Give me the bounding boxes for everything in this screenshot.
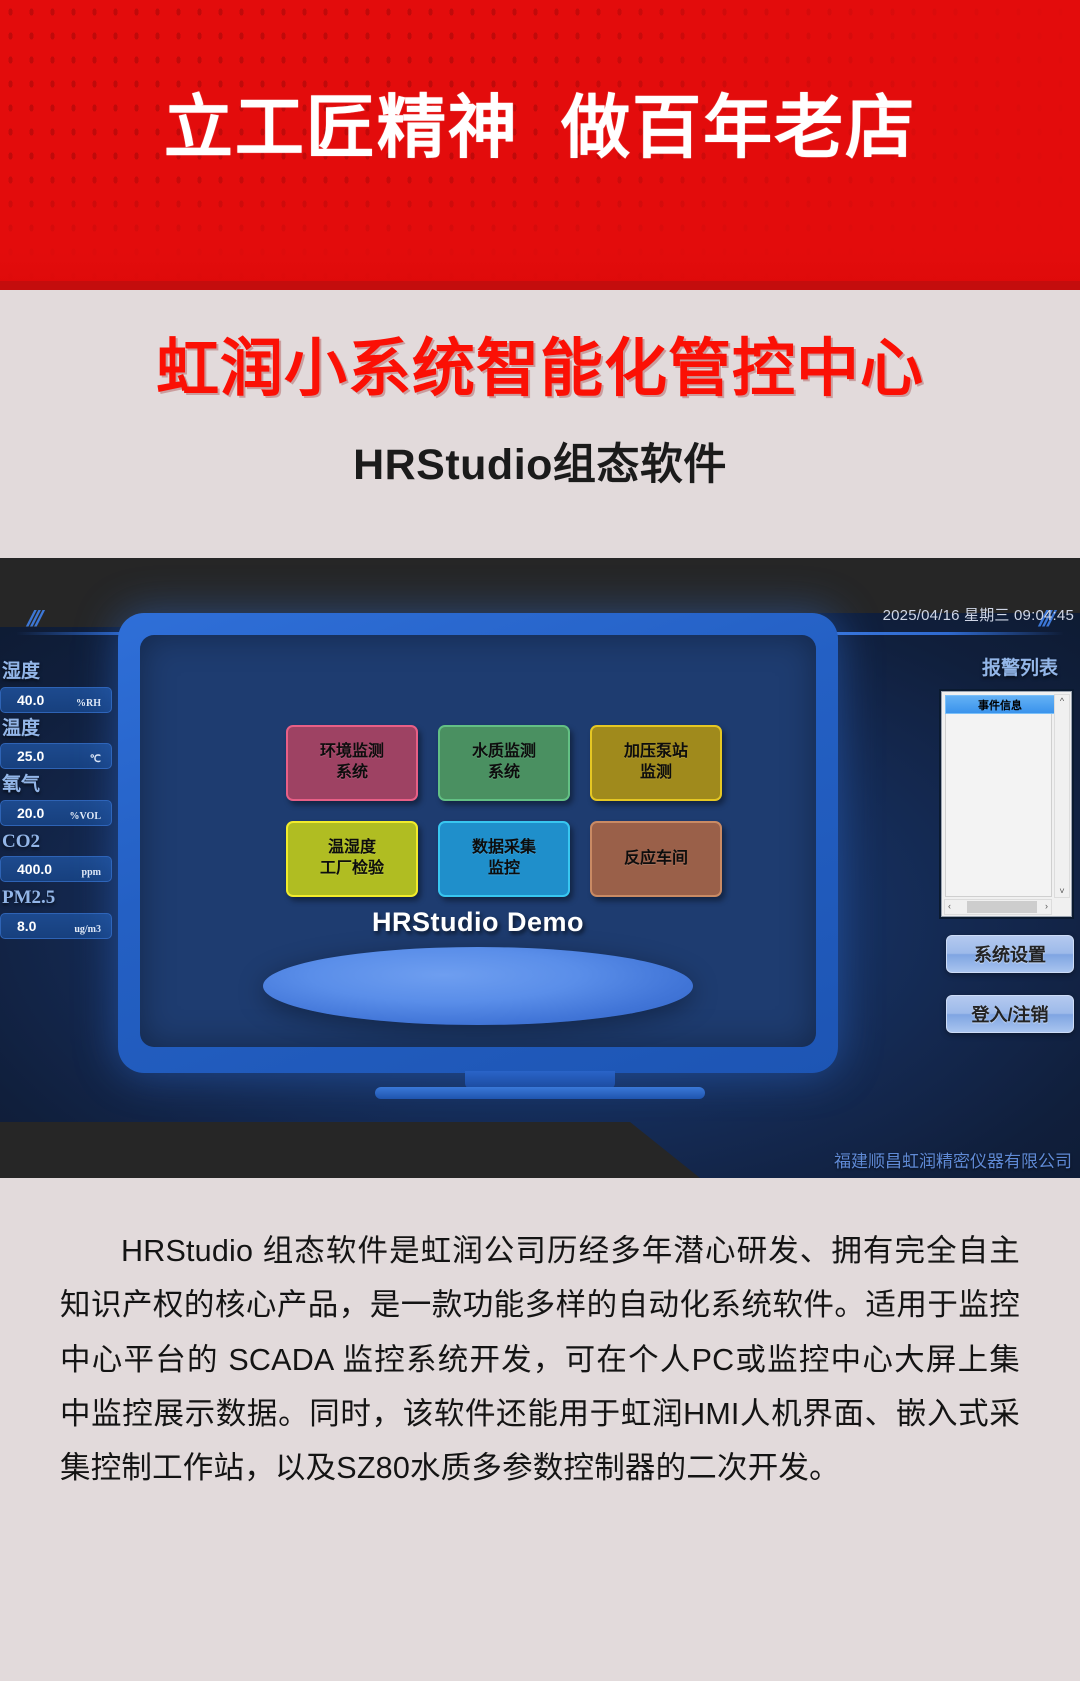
scroll-down-arrow-icon[interactable]: ˅ — [1055, 886, 1069, 896]
demo-label: HRStudio Demo — [140, 907, 816, 938]
description-paragraph: HRStudio 组态软件是虹润公司历经多年潜心研发、拥有完全自主知识产权的核心… — [60, 1224, 1020, 1495]
module-button-temp-humidity[interactable]: 温湿度 工厂检验 — [286, 821, 418, 897]
hmi-company-footer: 福建顺昌虹润精密仪器有限公司 — [834, 1147, 1072, 1172]
sensor-value: 400.0 — [17, 861, 52, 877]
module-button-pump-station[interactable]: 加压泵站 监测 — [590, 725, 722, 801]
module-button-env-monitoring[interactable]: 环境监测 系统 — [286, 725, 418, 801]
sensor-label: 氧气 — [0, 771, 112, 799]
sensor-label: PM2.5 — [0, 884, 112, 912]
module-button-water-quality[interactable]: 水质监测 系统 — [438, 725, 570, 801]
sensor-value: 40.0 — [17, 692, 44, 708]
scroll-right-arrow-icon[interactable]: › — [1045, 901, 1048, 911]
sensor-label: 湿度 — [0, 658, 112, 686]
sensor-label: 温度 — [0, 715, 112, 743]
sensor-value: 25.0 — [17, 748, 44, 764]
hmi-bottom-bar — [0, 1122, 700, 1178]
sensor-readout[interactable]: 8.0 ug/m3 — [0, 913, 112, 939]
banner-slogan: 立工匠精神 做百年老店 — [0, 92, 1080, 164]
title-block: 虹润小系统智能化管控中心 HRStudio组态软件 — [0, 290, 1080, 558]
sensor-readout[interactable]: 400.0 ppm — [0, 856, 112, 882]
scrollbar-thumb[interactable] — [967, 901, 1037, 913]
alarm-vertical-scrollbar[interactable]: ^ ˅ — [1054, 694, 1070, 898]
sensor-item: CO2 400.0 ppm — [0, 828, 112, 883]
hmi-datetime: 2025/04/16 星期三 09:04:45 — [883, 604, 1074, 625]
page-title: 虹润小系统智能化管控中心 — [0, 318, 1080, 409]
module-button-data-acquisition[interactable]: 数据采集 监控 — [438, 821, 570, 897]
monitor-screen: 环境监测 系统 水质监测 系统 加压泵站 监测 温湿度 工厂检验 数据采集 监控… — [140, 635, 816, 1047]
sensor-item: 湿度 40.0 %RH — [0, 658, 112, 713]
sensor-unit: ppm — [82, 867, 101, 878]
monitor-base — [375, 1087, 705, 1099]
banner-bottom-rule — [0, 281, 1080, 290]
sensor-unit: ℃ — [90, 754, 101, 765]
sensor-label: CO2 — [0, 828, 112, 856]
alarm-horizontal-scrollbar[interactable]: ‹ › — [944, 899, 1052, 915]
alarm-column-header: 事件信息 — [945, 695, 1055, 714]
alarm-rows-container[interactable] — [945, 714, 1052, 897]
sensor-readout[interactable]: 25.0 ℃ — [0, 743, 112, 769]
module-button-reaction-shop[interactable]: 反应车间 — [590, 821, 722, 897]
module-button-grid: 环境监测 系统 水质监测 系统 加压泵站 监测 温湿度 工厂检验 数据采集 监控… — [286, 725, 722, 897]
sensor-readout[interactable]: 40.0 %RH — [0, 687, 112, 713]
sensor-item: PM2.5 8.0 ug/m3 — [0, 884, 112, 939]
sensor-panel: 湿度 40.0 %RH 温度 25.0 ℃ 氧气 20.0 %VOL — [0, 658, 112, 941]
banner-gradient-bottom — [0, 160, 1080, 290]
sensor-item: 温度 25.0 ℃ — [0, 715, 112, 770]
scroll-up-arrow-icon[interactable]: ^ — [1055, 696, 1069, 706]
sensor-unit: ug/m3 — [74, 924, 101, 935]
monitor-bezel: 环境监测 系统 水质监测 系统 加压泵站 监测 温湿度 工厂检验 数据采集 监控… — [118, 613, 838, 1073]
sensor-item: 氧气 20.0 %VOL — [0, 771, 112, 826]
system-settings-button[interactable]: 系统设置 — [946, 935, 1074, 973]
login-logout-button[interactable]: 登入/注销 — [946, 995, 1074, 1033]
description-section: HRStudio 组态软件是虹润公司历经多年潜心研发、拥有完全自主知识产权的核心… — [0, 1178, 1080, 1681]
alarm-list-panel[interactable]: 事件信息 ^ ˅ ‹ › — [939, 689, 1074, 919]
hero-banner: 立工匠精神 做百年老店 — [0, 0, 1080, 290]
alarm-list-title: 报警列表 — [982, 653, 1058, 680]
sensor-readout[interactable]: 20.0 %VOL — [0, 800, 112, 826]
page-subtitle: HRStudio组态软件 — [0, 430, 1080, 492]
hmi-screenshot: /// /// 虹润小系统智能化管控中心 2025/04/16 星期三 09:0… — [0, 558, 1080, 1178]
sensor-unit: %VOL — [70, 811, 101, 822]
stage-ellipse-graphic — [263, 947, 693, 1025]
sensor-value: 8.0 — [17, 918, 36, 934]
sensor-value: 20.0 — [17, 805, 44, 821]
scroll-left-arrow-icon[interactable]: ‹ — [948, 901, 951, 911]
sensor-unit: %RH — [76, 698, 101, 709]
product-promo-page: 立工匠精神 做百年老店 虹润小系统智能化管控中心 HRStudio组态软件 //… — [0, 0, 1080, 1681]
